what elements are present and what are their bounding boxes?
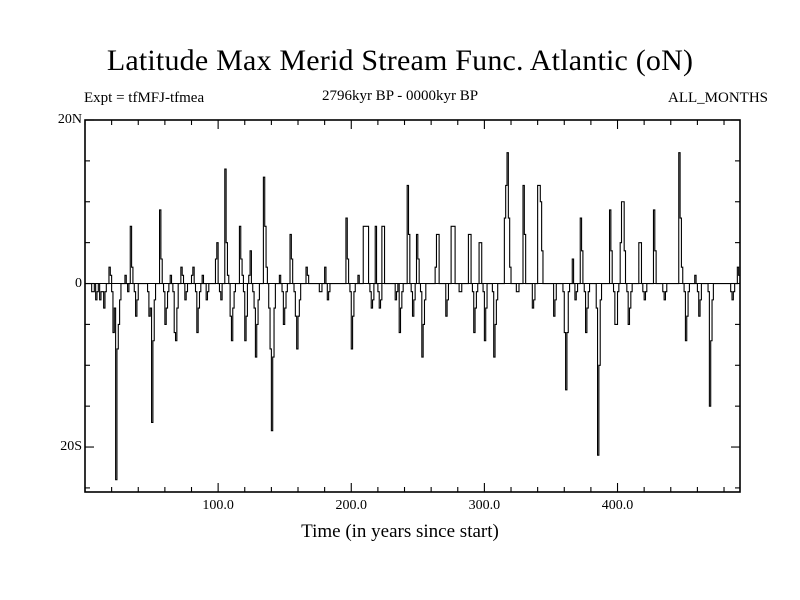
x-tick-label: 100.0 xyxy=(202,498,234,514)
y-tick-label: 0 xyxy=(75,276,82,292)
x-tick-label: 300.0 xyxy=(469,498,501,514)
x-axis-title: Time (in years since start) xyxy=(0,521,800,543)
x-tick-label: 400.0 xyxy=(602,498,634,514)
y-tick-label: 20S xyxy=(60,439,82,455)
plot-area xyxy=(0,0,800,600)
data-series-0 xyxy=(85,153,800,480)
figure-canvas: Latitude Max Merid Stream Func. Atlantic… xyxy=(0,0,800,600)
x-tick-label: 200.0 xyxy=(336,498,368,514)
y-tick-label: 20N xyxy=(58,112,82,128)
